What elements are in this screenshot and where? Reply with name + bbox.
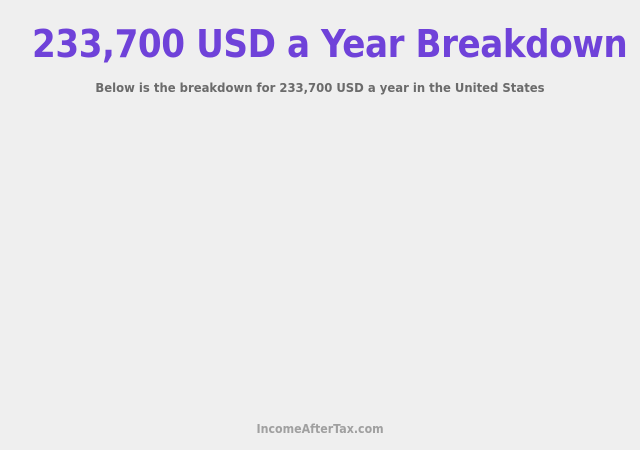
page-title: 233,700 USD a Year Breakdown [32, 22, 608, 66]
site-watermark: IncomeAfterTax.com [256, 421, 383, 437]
page-header: 233,700 USD a Year Breakdown Below is th… [0, 0, 640, 96]
breakdown-content-area [0, 96, 640, 420]
page-subtitle: Below is the breakdown for 233,700 USD a… [22, 66, 617, 96]
page-footer: IncomeAfterTax.com [0, 420, 640, 450]
breakdown-page: 233,700 USD a Year Breakdown Below is th… [0, 0, 640, 450]
